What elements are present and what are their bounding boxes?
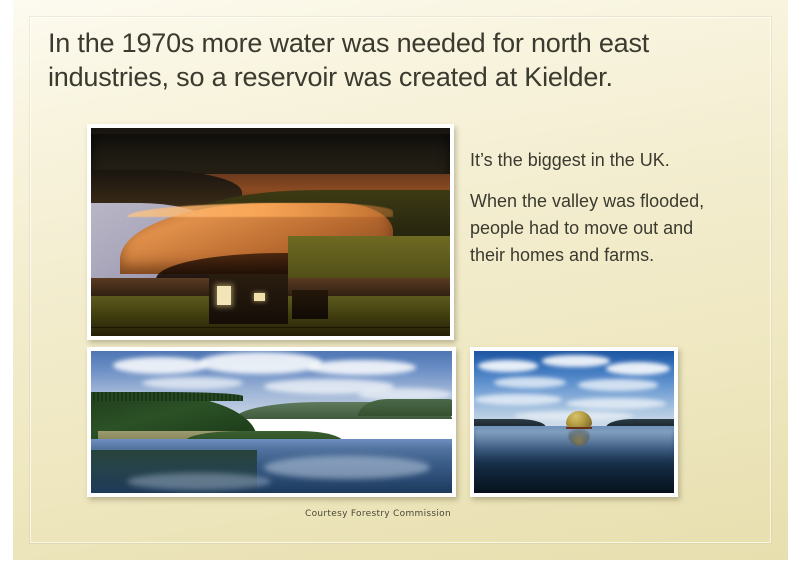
dam-fence-line [91,327,450,328]
body-paragraph-2: When the valley was flooded, people had … [470,188,720,269]
lake-cloud [308,360,416,376]
body-paragraph-1: It’s the biggest in the UK. [470,147,720,174]
buoy-cloud [494,377,566,388]
buoy-cloud [578,379,658,390]
kielder-reservoir-forest-photo [87,347,456,497]
presentation-slide: In the 1970s more water was needed for n… [13,0,788,560]
dam-lit-window-small [254,293,265,300]
lake-cloud-reflection [264,456,430,479]
kielder-buoy-photo [470,347,678,497]
slide-title: In the 1970s more water was needed for n… [48,26,748,94]
kielder-dam-photo-art [91,128,450,336]
lake-forest-treeline [91,392,243,401]
slide-body-text: It’s the biggest in the UK. When the val… [470,147,720,269]
lake-cloud [142,377,243,390]
photo-credit-caption: Courtesy Forestry Commission [278,509,478,519]
buoy-cloud [542,355,610,366]
slide-canvas: In the 1970s more water was needed for n… [0,0,800,566]
dam-shed [292,290,328,319]
kielder-dam-photo [87,124,454,340]
dam-lit-window [217,286,231,305]
buoy-cloud [478,360,538,373]
buoy-cloud [474,394,562,405]
lake-cloud [199,352,322,373]
lake-cloud [113,357,207,374]
lake-far-hill [358,399,452,416]
kielder-buoy-photo-art [474,351,674,493]
kielder-reservoir-forest-photo-art [91,351,452,493]
